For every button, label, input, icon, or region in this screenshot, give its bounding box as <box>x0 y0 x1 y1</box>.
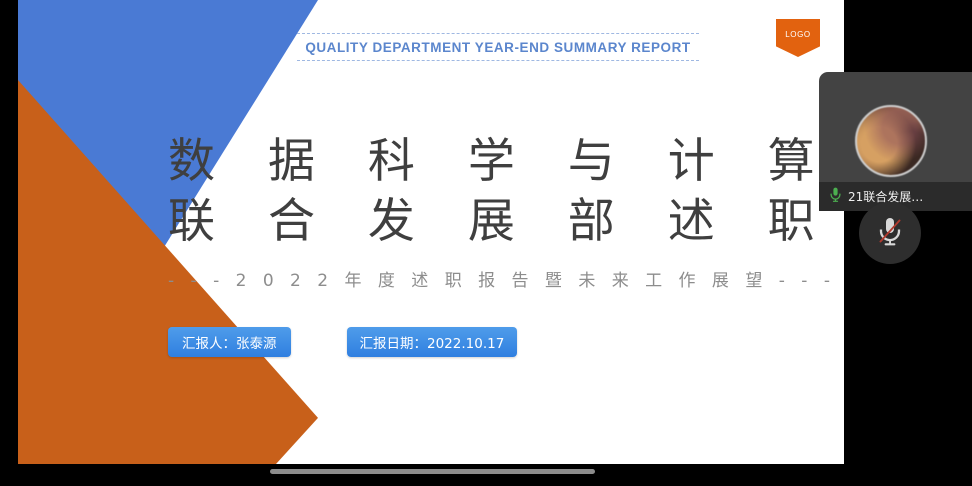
mute-toggle-button[interactable] <box>859 202 921 264</box>
microphone-icon <box>830 187 841 207</box>
subtitle-text: - - - 2 0 2 2 年 度 述 职 报 告 暨 未 来 工 作 展 望 … <box>168 266 844 291</box>
badge-group: 汇报人：张泰源 汇报日期：2022.10.17 <box>168 327 768 357</box>
slide-progress-bar[interactable] <box>270 469 595 474</box>
title-line-2: 联 合 发 展 部 述 职 报 告 <box>168 192 844 252</box>
logo-text: LOGO <box>785 30 811 39</box>
eyebrow-header: QUALITY DEPARTMENT YEAR-END SUMMARY REPO… <box>297 33 699 61</box>
avatar <box>855 105 927 177</box>
participant-video-tile[interactable]: 21联合发展… <box>819 72 972 211</box>
screen: QUALITY DEPARTMENT YEAR-END SUMMARY REPO… <box>0 0 972 486</box>
eyebrow-text: QUALITY DEPARTMENT YEAR-END SUMMARY REPO… <box>297 34 699 60</box>
microphone-muted-icon <box>877 215 903 252</box>
title-line-1: 数 据 科 学 与 计 算 机 学 院 <box>168 132 844 192</box>
report-date-badge: 汇报日期：2022.10.17 <box>347 327 518 357</box>
logo-shield-icon: LOGO <box>776 19 820 57</box>
page-title: 数 据 科 学 与 计 算 机 学 院 联 合 发 展 部 述 职 报 告 <box>168 132 844 252</box>
presentation-slide[interactable]: QUALITY DEPARTMENT YEAR-END SUMMARY REPO… <box>18 0 844 464</box>
dashed-rule-bottom <box>297 60 699 61</box>
presenter-badge: 汇报人：张泰源 <box>168 327 291 357</box>
